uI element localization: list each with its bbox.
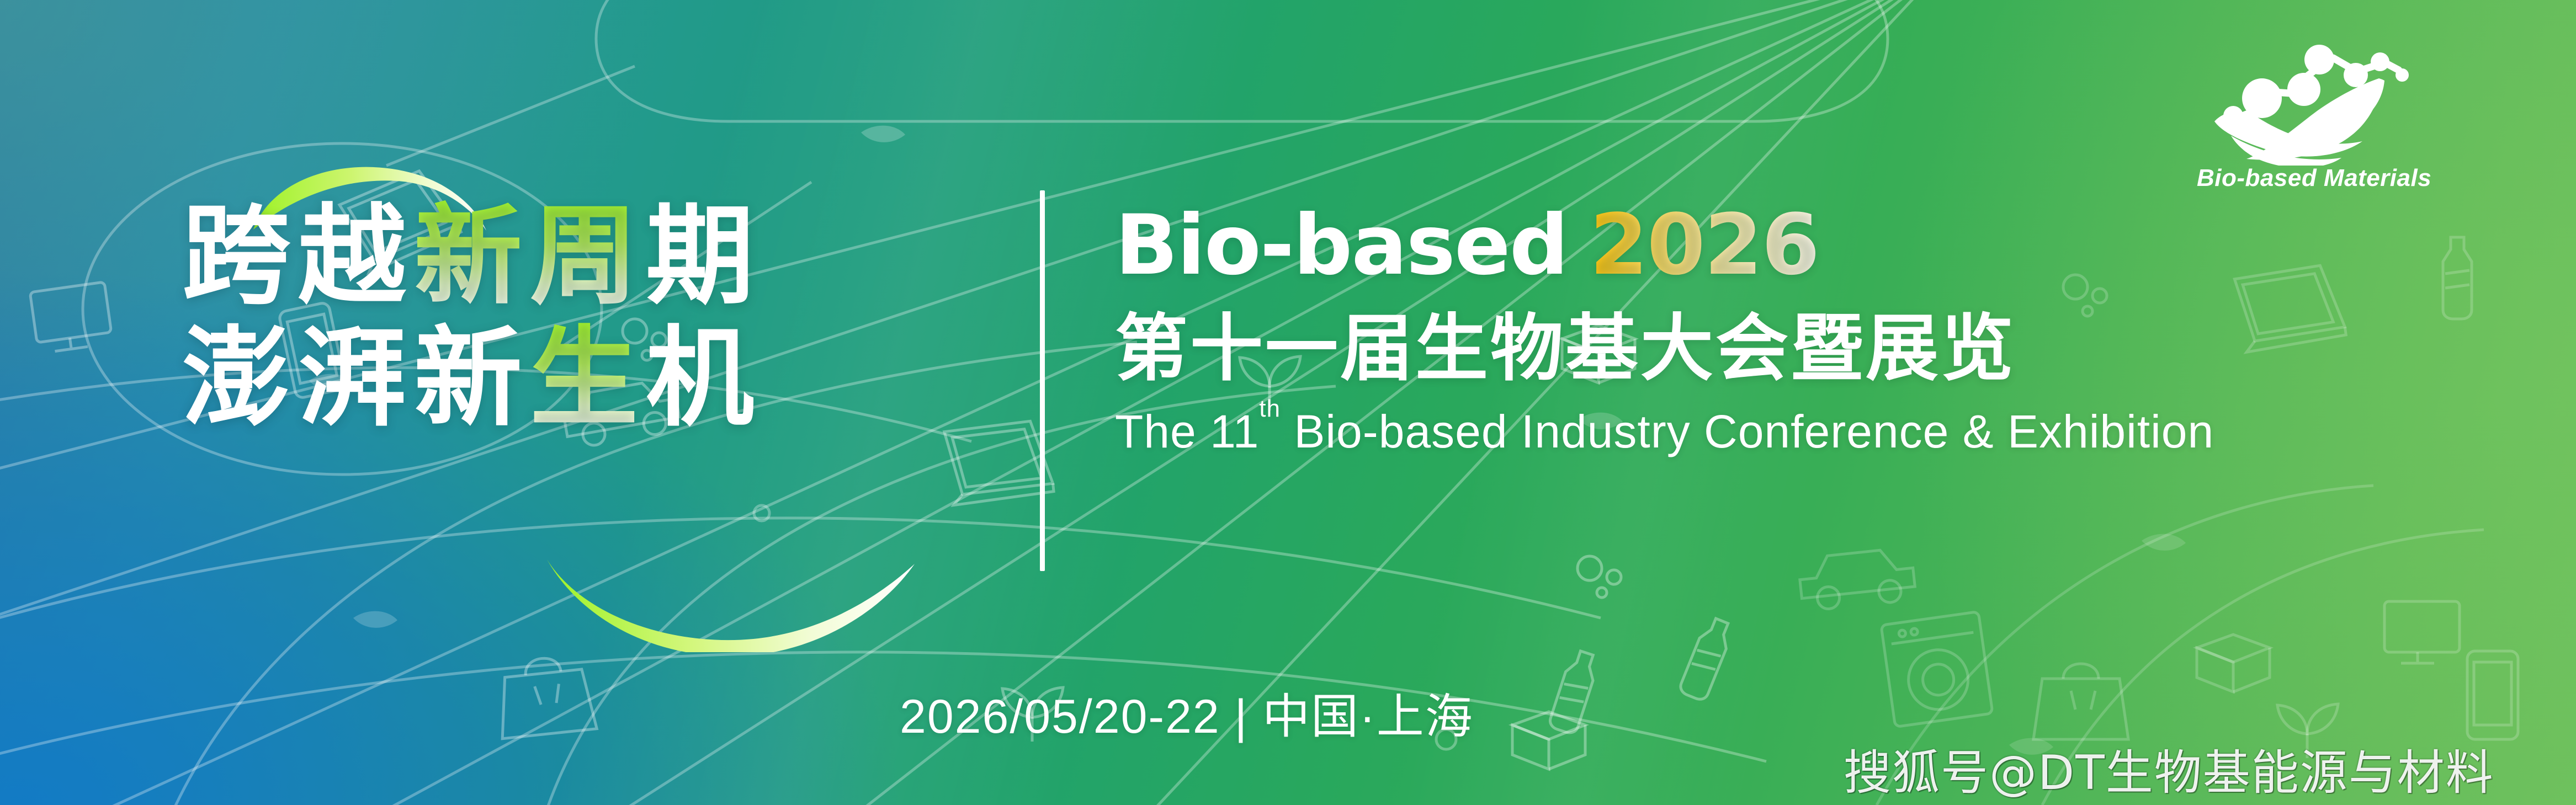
slogan-block: 跨越新周期 澎湃新生机	[182, 196, 994, 440]
conference-banner: 跨越新周期 澎湃新生机 Bio-based2026 第十一届生物基大会暨展览 T…	[0, 0, 2576, 805]
dateline: 2026/05/20-22|中国·上海	[900, 678, 1474, 747]
slogan-line-2-prefix: 澎湃	[182, 316, 414, 441]
green-swoosh-arc-bottom-icon	[544, 558, 919, 652]
brand-name: Bio-based	[1115, 198, 1568, 294]
slogan-line-2-mid: 生	[530, 316, 646, 441]
english-title-post: Bio-based Industry Conference & Exhibiti…	[1281, 406, 2214, 457]
slogan-line-1-suffix: 期	[646, 194, 762, 319]
dateline-separator: |	[1235, 690, 1248, 743]
slogan-line-1: 跨越新周期	[182, 196, 994, 318]
slogan-line-2: 澎湃新生机	[182, 318, 994, 440]
slogan-line-2-highlight: 新	[414, 316, 530, 441]
slogan-line-1-mid: 周	[530, 194, 646, 319]
bio-based-materials-logo: Bio-based Materials	[2197, 39, 2429, 215]
slogan-line-2-suffix: 机	[646, 316, 762, 441]
event-location: 中国·上海	[1262, 690, 1474, 743]
event-date: 2026/05/20-22	[900, 690, 1220, 743]
leaf-molecule-logo-icon	[2197, 39, 2429, 166]
event-title-chinese: 第十一届生物基大会暨展览	[1115, 312, 2506, 385]
event-title-line: Bio-based2026	[1115, 203, 2506, 287]
event-title-english: The 11th Bio-based Industry Conference &…	[1115, 408, 2506, 455]
vertical-divider	[1040, 190, 1045, 571]
slogan-line-1-prefix: 跨越	[182, 194, 414, 319]
ordinal-suffix: th	[1259, 395, 1281, 422]
title-block: Bio-based2026 第十一届生物基大会暨展览 The 11th Bio-…	[1115, 203, 2506, 455]
source-watermark: 搜狐号@DT生物基能源与材料	[1844, 734, 2494, 803]
logo-caption: Bio-based Materials	[2197, 164, 2429, 192]
english-title-pre: The 11	[1115, 406, 1259, 457]
slogan-line-1-highlight: 新	[414, 194, 530, 319]
event-year: 2026	[1590, 196, 1819, 294]
